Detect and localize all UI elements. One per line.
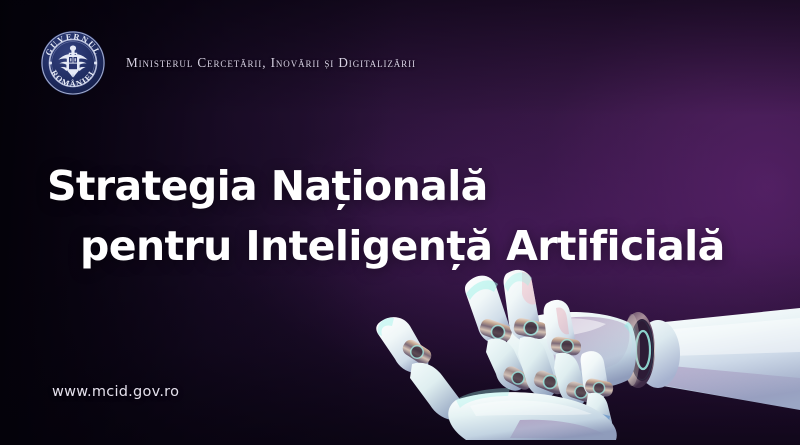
ministry-name-label: Ministerul Cercetării, Inovării și Digit… [126,55,416,71]
page-title: Strategia Națională pentru Inteligență A… [47,156,725,276]
title-line-1: Strategia Națională [47,156,725,216]
website-url-label: www.mcid.gov.ro [52,384,179,400]
title-line-2: pentru Inteligență Artificială [47,216,725,276]
ai-strategy-banner: GUVERNUL ROMÂNIEI [0,0,800,445]
header: GUVERNUL ROMÂNIEI [40,30,416,96]
romania-government-seal-icon: GUVERNUL ROMÂNIEI [40,30,106,96]
